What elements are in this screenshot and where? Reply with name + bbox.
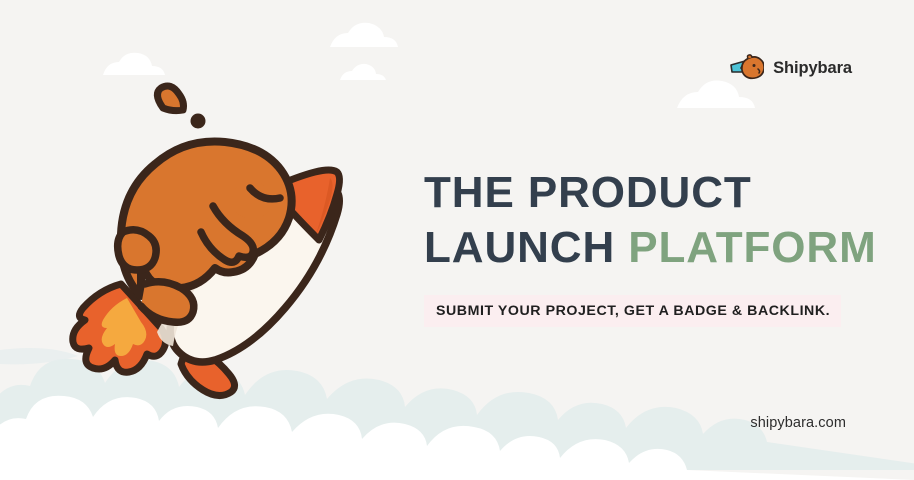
brand-name-text: Shipybara [773, 60, 852, 77]
capybara-head [742, 55, 764, 78]
headline-dark-word: LAUNCH [424, 223, 615, 272]
cloud-lumps-left [0, 432, 244, 480]
headline-line-2: LAUNCH PLATFORM [424, 221, 874, 274]
site-url-text[interactable]: shipybara.com [750, 415, 846, 431]
hero-banner: Shipybara [0, 0, 914, 480]
hero-copy: THE PRODUCT LAUNCH PLATFORM SUBMIT YOUR … [424, 166, 874, 327]
headline-accent-word: PLATFORM [628, 223, 876, 272]
capybara-riding-rocket-illustration [45, 70, 415, 410]
headline-line-1: THE PRODUCT [424, 166, 874, 219]
brand-logo[interactable]: Shipybara [730, 52, 852, 84]
tagline-text: SUBMIT YOUR PROJECT, GET A BADGE & BACKL… [436, 304, 830, 318]
tagline-band: SUBMIT YOUR PROJECT, GET A BADGE & BACKL… [424, 295, 841, 327]
capybara-paper-plane-icon [730, 52, 764, 84]
